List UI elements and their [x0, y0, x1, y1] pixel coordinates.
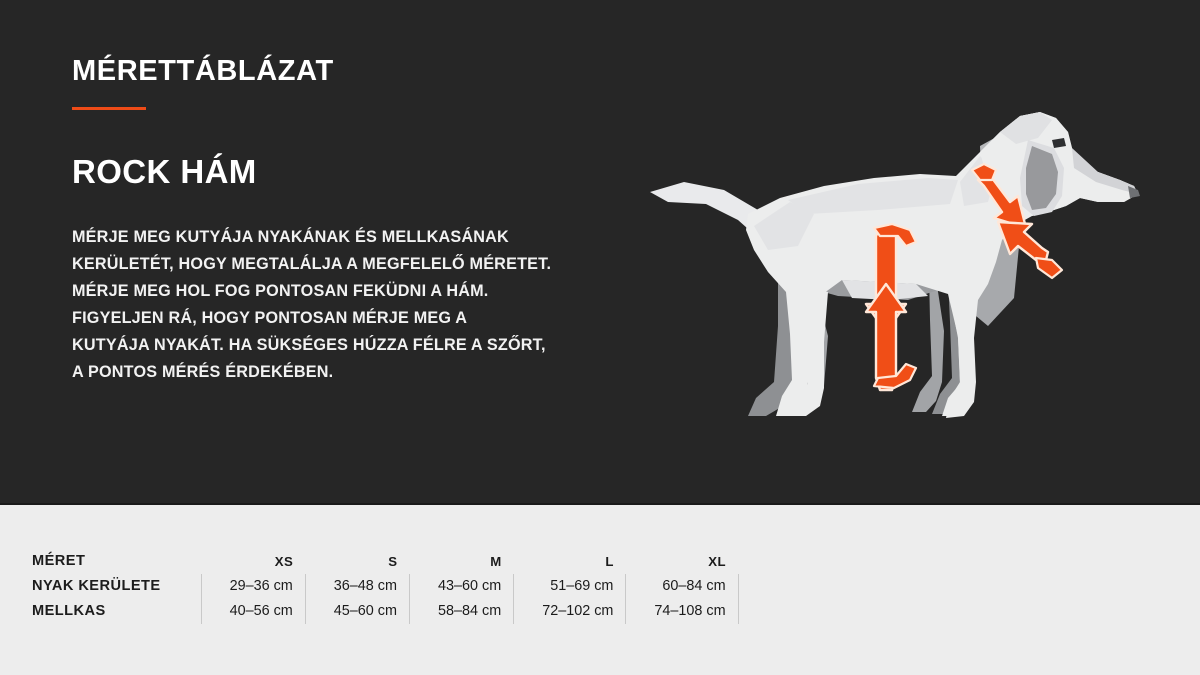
instruction-line: MÉRJE MEG KUTYÁJA NYAKÁNAK ÉS MELLKASÁNA… [72, 224, 672, 251]
cell-neck-l: 51–69 cm [514, 574, 626, 599]
size-table: MÉRET XS S M L XL NYAK KERÜLETE 29–36 cm… [32, 549, 739, 624]
title-accent-rule [72, 107, 146, 110]
product-title: ROCK HÁM [72, 154, 672, 190]
row-label-size: MÉRET [32, 549, 201, 574]
cell-neck-m: 43–60 cm [409, 574, 513, 599]
size-chart-page: MÉRETTÁBLÁZAT ROCK HÁM MÉRJE MEG KUTYÁJA… [0, 0, 1200, 675]
instruction-line: KERÜLETÉT, HOGY MEGTALÁLJA A MEGFELELŐ M… [72, 251, 672, 278]
column-header-m: M [409, 549, 513, 574]
instruction-line: KUTYÁJA NYAKÁT. HA SÜKSÉGES HÚZZA FÉLRE … [72, 332, 672, 359]
column-header-s: S [305, 549, 409, 574]
column-header-l: L [514, 549, 626, 574]
dark-hero-panel: MÉRETTÁBLÁZAT ROCK HÁM MÉRJE MEG KUTYÁJA… [0, 0, 1200, 505]
table-header-row: MÉRET XS S M L XL [32, 549, 738, 574]
page-title: MÉRETTÁBLÁZAT [72, 56, 672, 88]
instruction-line: MÉRJE MEG HOL FOG PONTOSAN FEKÜDNI A HÁM… [72, 278, 672, 305]
table-row: MELLKAS 40–56 cm 45–60 cm 58–84 cm 72–10… [32, 599, 738, 624]
cell-neck-s: 36–48 cm [305, 574, 409, 599]
dog-illustration [628, 86, 1194, 426]
instruction-line: A PONTOS MÉRÉS ÉRDEKÉBEN. [72, 359, 672, 386]
cell-neck-xl: 60–84 cm [626, 574, 738, 599]
row-label-neck: NYAK KERÜLETE [32, 574, 201, 599]
instructions-paragraph: MÉRJE MEG KUTYÁJA NYAKÁNAK ÉS MELLKASÁNA… [72, 224, 672, 385]
table-row: NYAK KERÜLETE 29–36 cm 36–48 cm 43–60 cm… [32, 574, 738, 599]
column-header-xs: XS [201, 549, 305, 574]
hero-text-block: MÉRETTÁBLÁZAT ROCK HÁM MÉRJE MEG KUTYÁJA… [72, 56, 672, 386]
row-label-chest: MELLKAS [32, 599, 201, 624]
size-table-panel: MÉRET XS S M L XL NYAK KERÜLETE 29–36 cm… [0, 505, 1200, 675]
cell-chest-l: 72–102 cm [514, 599, 626, 624]
column-header-xl: XL [626, 549, 738, 574]
cell-chest-s: 45–60 cm [305, 599, 409, 624]
cell-neck-xs: 29–36 cm [201, 574, 305, 599]
instruction-line: FIGYELJEN RÁ, HOGY PONTOSAN MÉRJE MEG A [72, 305, 672, 332]
cell-chest-m: 58–84 cm [409, 599, 513, 624]
cell-chest-xl: 74–108 cm [626, 599, 738, 624]
cell-chest-xs: 40–56 cm [201, 599, 305, 624]
